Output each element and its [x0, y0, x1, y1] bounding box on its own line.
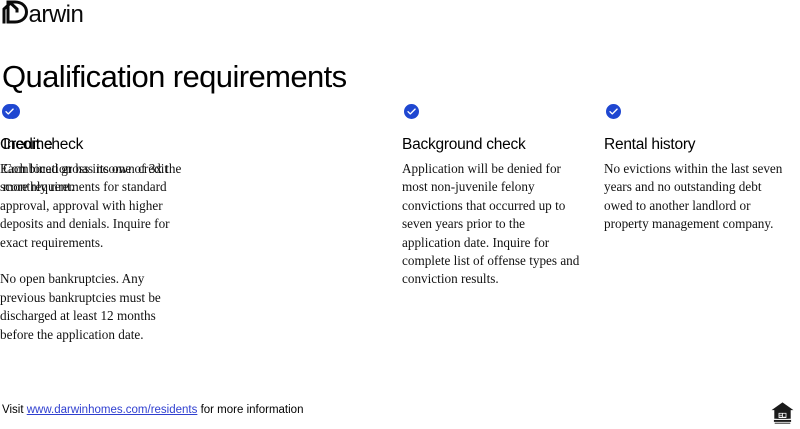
column-heading: Credit check — [0, 135, 182, 154]
check-circle-icon — [2, 104, 17, 119]
column-paragraph: No evictions within the last seven years… — [604, 160, 784, 234]
column-heading: Background check — [402, 135, 580, 154]
column-paragraph: No open bankruptcies. Any previous bankr… — [0, 270, 182, 344]
column-paragraph: Application will be denied for most non-… — [402, 160, 580, 289]
svg-text:arwin: arwin — [29, 1, 84, 25]
darwin-house-d-logo: arwin — [2, 0, 98, 25]
requirement-column-credit-check: Credit check Each location has its own c… — [0, 101, 182, 344]
residents-link[interactable]: www.darwinhomes.com/residents — [27, 404, 198, 416]
column-paragraph: Each location has its own credit score r… — [0, 160, 182, 252]
check-circle-icon — [606, 104, 621, 119]
slide-page: arwin Qualification requirements Income … — [0, 0, 800, 429]
requirement-column-rental-history: Rental history No evictions within the l… — [604, 101, 784, 234]
brand-logo: arwin — [2, 0, 98, 26]
page-title: Qualification requirements — [2, 58, 347, 96]
column-heading: Rental history — [604, 135, 784, 154]
column-body: Application will be denied for most non-… — [402, 160, 580, 289]
equal-housing-opportunity-logo — [770, 400, 795, 425]
footer-prefix: Visit — [2, 404, 27, 416]
column-body: No evictions within the last seven years… — [604, 160, 784, 234]
footer-note: Visit www.darwinhomes.com/residents for … — [2, 403, 303, 418]
check-circle-icon — [404, 104, 419, 119]
footer-suffix: for more information — [197, 404, 303, 416]
requirement-column-background-check: Background check Application will be den… — [402, 101, 580, 289]
column-body: Each location has its own credit score r… — [0, 160, 182, 344]
